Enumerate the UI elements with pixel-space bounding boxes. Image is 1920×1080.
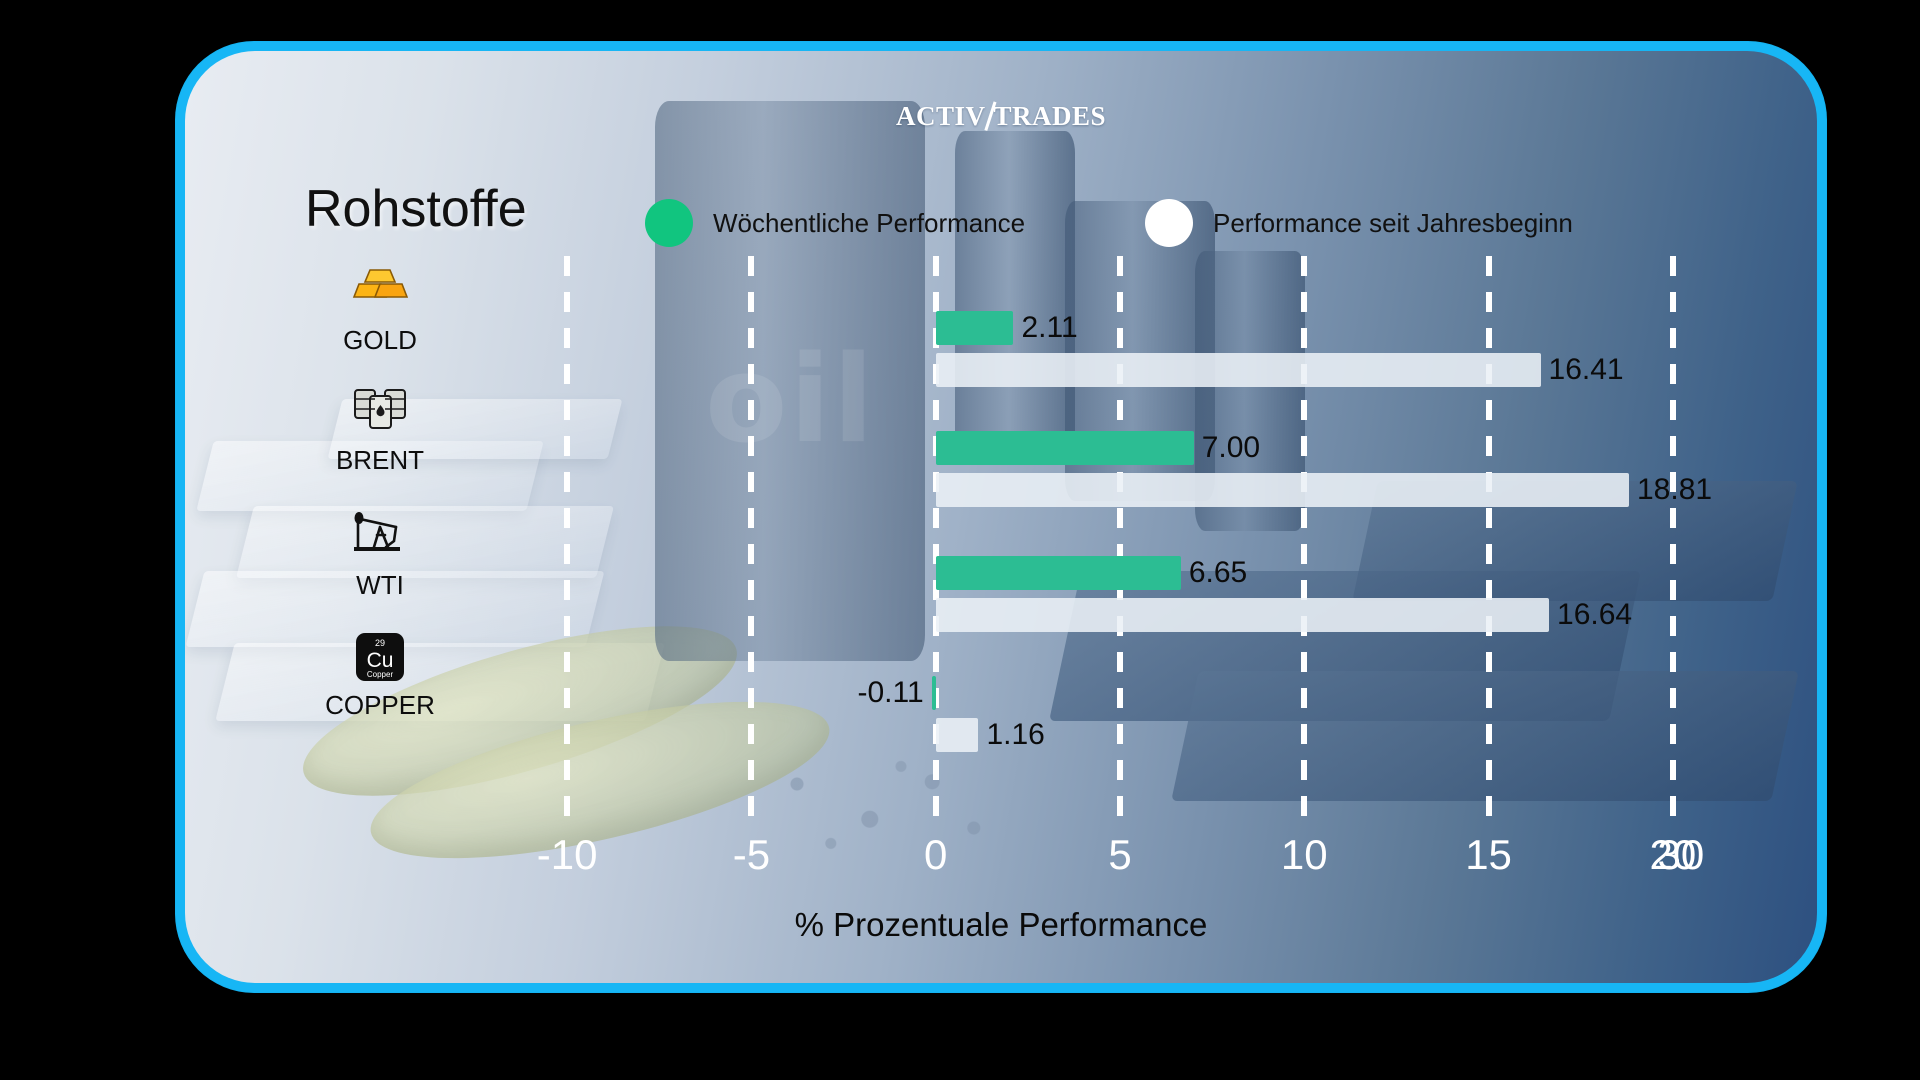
legend-item-weekly: Wöchentliche Performance [645, 199, 1025, 247]
bar-weekly [932, 676, 936, 710]
category-icon-gold [320, 266, 440, 308]
bar-ytd [936, 353, 1541, 387]
legend-item-ytd: Performance seit Jahresbeginn [1145, 199, 1573, 247]
svg-text:Cu: Cu [367, 649, 394, 672]
bar-value-ytd: 16.41 [1549, 353, 1624, 387]
x-tick-label: 5 [1108, 831, 1131, 879]
x-tick-label: -10 [537, 831, 598, 879]
legend-marker-weekly-icon [645, 199, 693, 247]
x-tick-label: 10 [1281, 831, 1328, 879]
bar-value-weekly: 7.00 [1202, 431, 1260, 465]
page-title: Rohstoffe [305, 179, 527, 239]
chart-card: oil ACTIVTRADES Rohstoffe Wöchentliche P… [185, 51, 1817, 983]
legend-label-ytd: Performance seit Jahresbeginn [1213, 208, 1573, 239]
bar-weekly [936, 556, 1181, 590]
category-icon-wti [320, 511, 440, 557]
bar-weekly [936, 311, 1014, 345]
oil-barrels-icon [352, 386, 408, 432]
category-icon-brent [320, 386, 440, 432]
bar-value-ytd: 16.64 [1557, 598, 1632, 632]
screenshot-root: oil ACTIVTRADES Rohstoffe Wöchentliche P… [0, 0, 1920, 1080]
x-tick-label: -5 [733, 831, 770, 879]
bar-ytd [936, 718, 979, 752]
legend-label-weekly: Wöchentliche Performance [713, 208, 1025, 239]
chart-card-border: oil ACTIVTRADES Rohstoffe Wöchentliche P… [176, 42, 1826, 992]
copper-element-icon: 29 Cu Copper [354, 631, 406, 683]
bar-value-weekly: 6.65 [1189, 556, 1247, 590]
svg-text:29: 29 [375, 638, 385, 648]
svg-text:Copper: Copper [367, 670, 394, 679]
bar-value-ytd: 18.81 [1637, 473, 1712, 507]
bar-value-weekly: -0.11 [858, 676, 924, 710]
x-tick-label: 0 [924, 831, 947, 879]
brand-logo: ACTIVTRADES [185, 101, 1817, 134]
bar-ytd [936, 473, 1629, 507]
oil-pumpjack-icon [350, 511, 410, 557]
x-tick-label-overlap: 30 [1657, 831, 1704, 879]
x-axis-title: % Prozentuale Performance [185, 906, 1817, 944]
bar-ytd [936, 598, 1549, 632]
category-label-brent: BRENT [280, 445, 480, 476]
category-label-wti: WTI [280, 570, 480, 601]
bar-rows: 2.1116.417.0018.816.6516.64-0.111.16 [475, 256, 1765, 831]
bar-value-weekly: 2.11 [1021, 311, 1077, 345]
bar-value-ytd: 1.16 [986, 718, 1044, 752]
logo-text-trades: TRADES [993, 101, 1106, 131]
category-label-gold: GOLD [280, 325, 480, 356]
category-label-copper: COPPER [280, 690, 480, 721]
category-icon-copper: 29 Cu Copper [320, 631, 440, 683]
logo-text-activ: ACTIV [896, 101, 986, 131]
x-tick-label: 15 [1465, 831, 1512, 879]
bar-weekly [936, 431, 1194, 465]
gold-bars-icon [352, 266, 408, 308]
chart-plot-area: 2.1116.417.0018.816.6516.64-0.111.16 [475, 256, 1765, 831]
legend-marker-ytd-icon [1145, 199, 1193, 247]
